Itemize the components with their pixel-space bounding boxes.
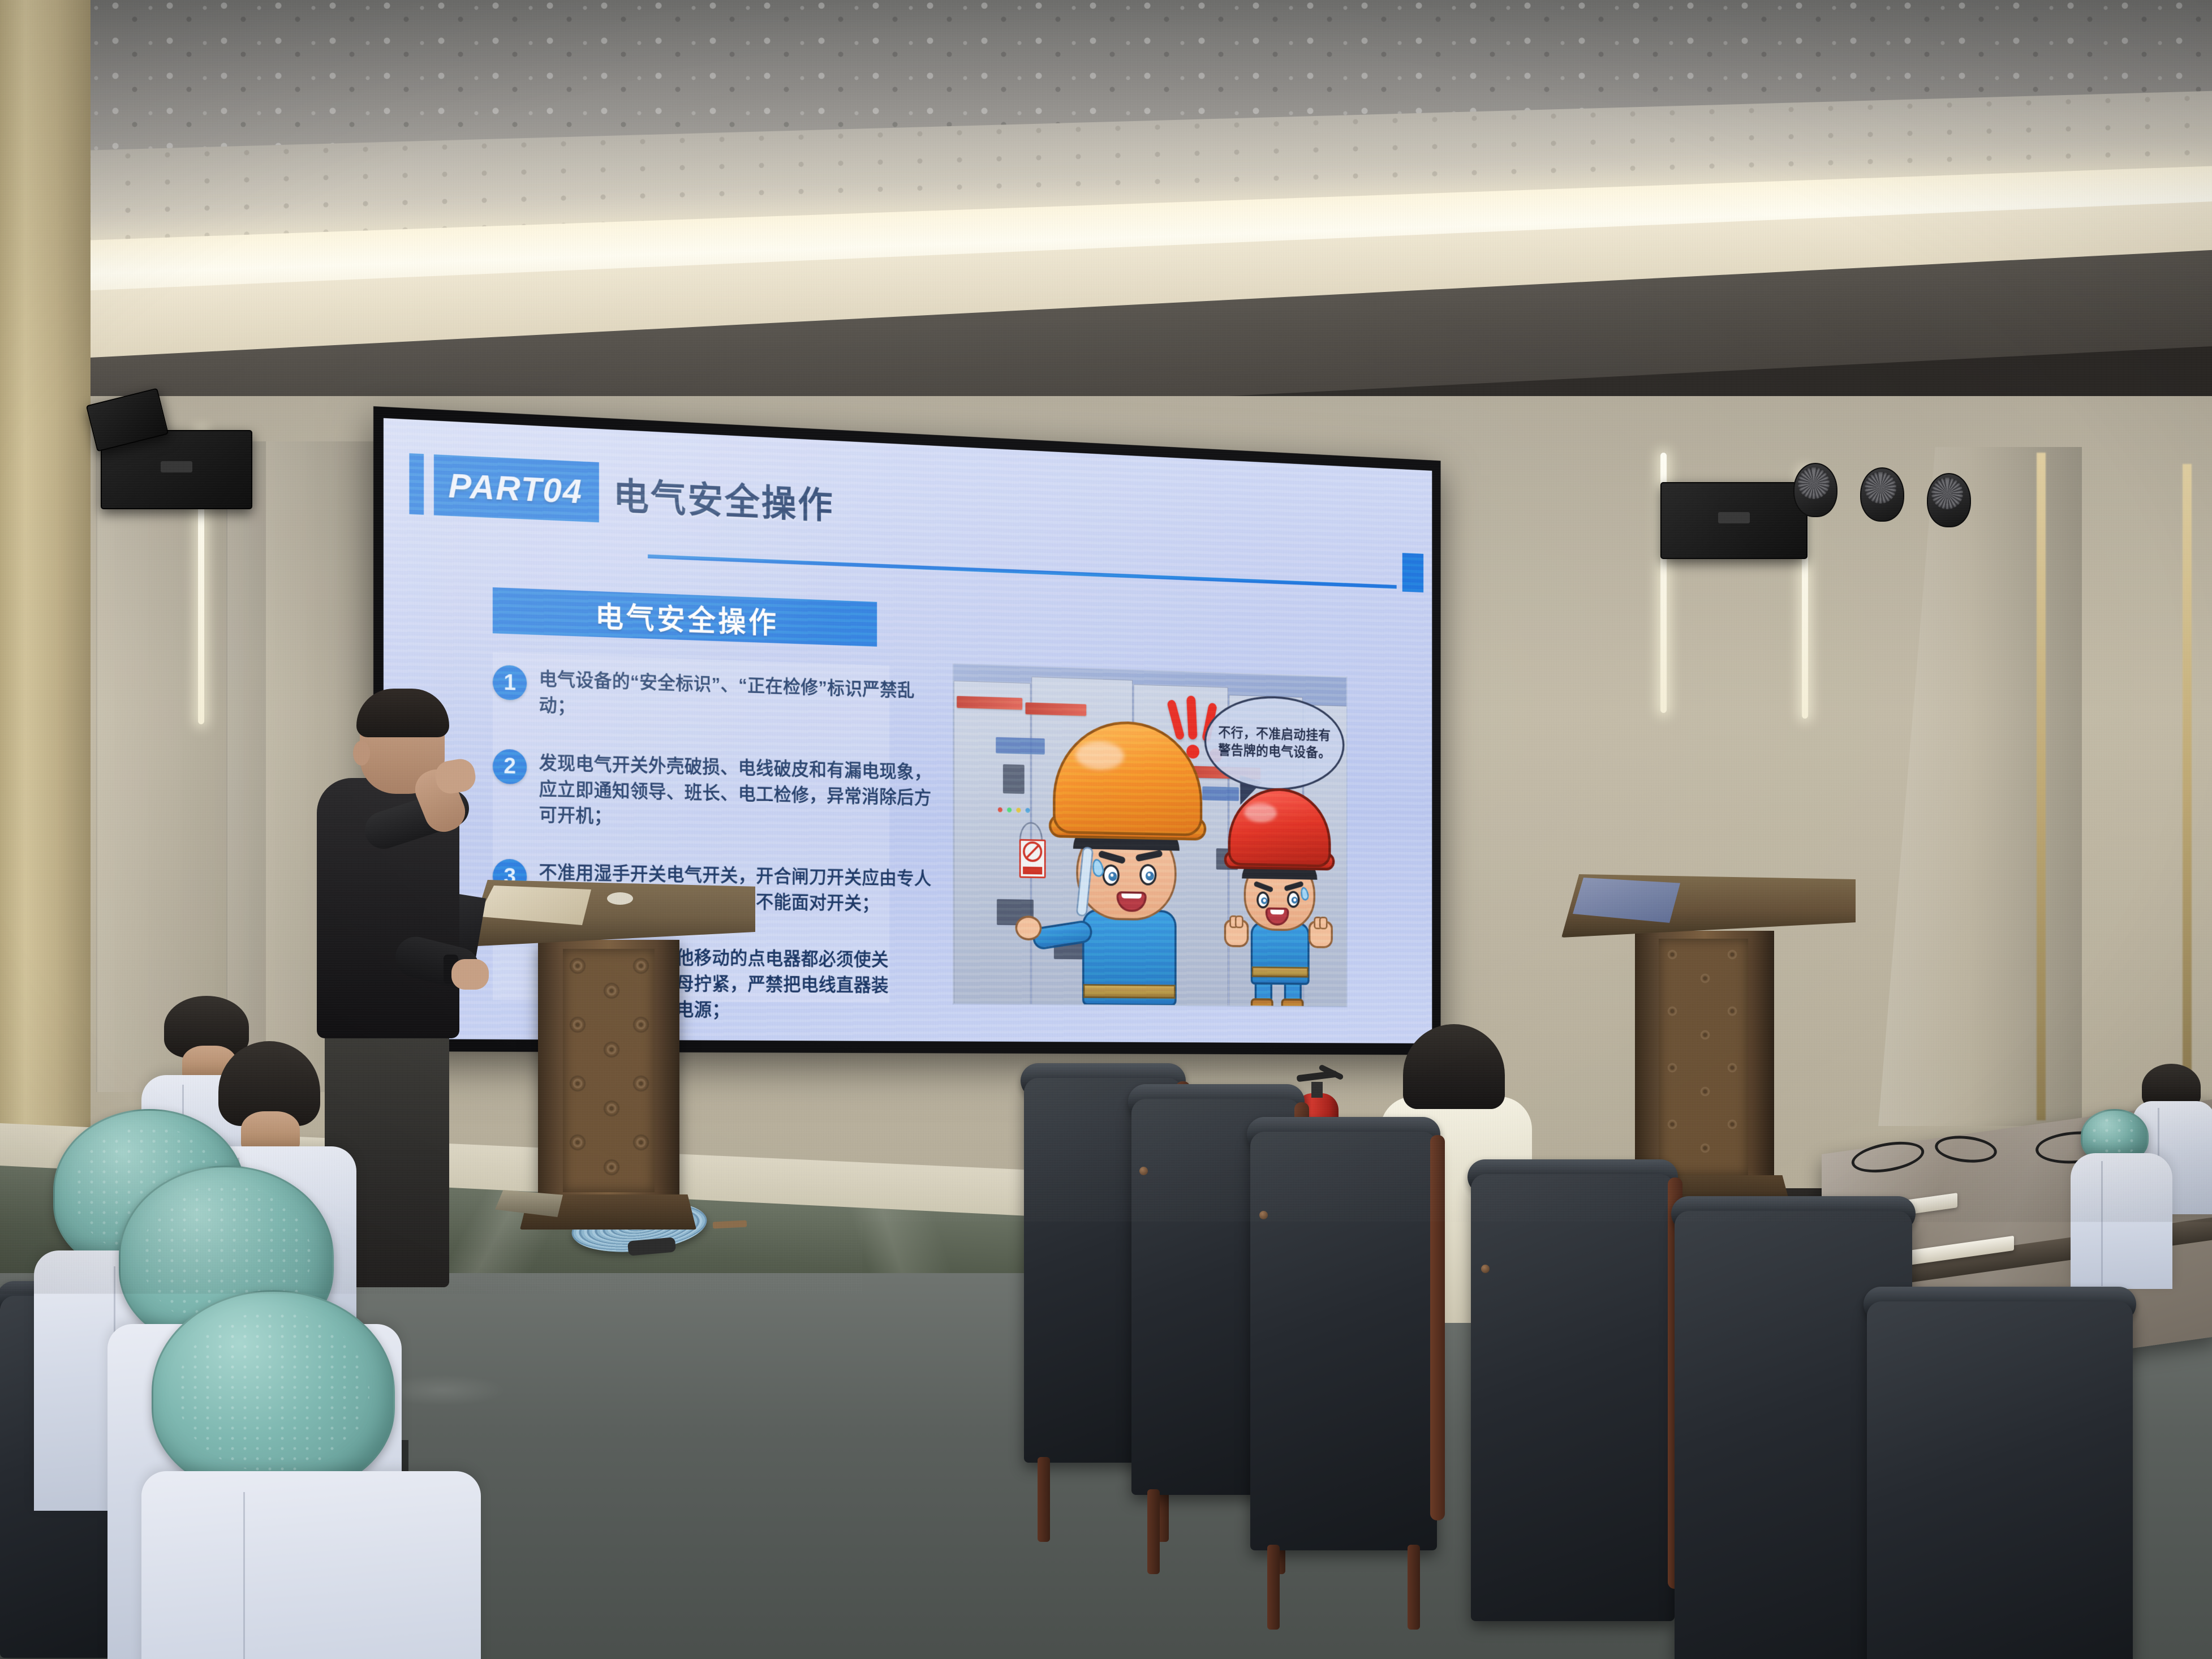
cabinet-indicator-blue xyxy=(1026,808,1030,813)
audience-member-4 xyxy=(464,1471,781,1659)
header-accent-tick xyxy=(409,453,424,515)
podium-step-shelf xyxy=(495,1190,563,1217)
chair-back-6 xyxy=(1867,1301,2133,1659)
no-operation-sign xyxy=(1019,839,1046,878)
cabinet-indicator-amber xyxy=(1016,808,1021,813)
spotlight-1 xyxy=(1793,463,1837,517)
worker-front-eye-right xyxy=(1139,864,1156,886)
speaker-brand-logo xyxy=(161,461,192,472)
podium2-top xyxy=(1561,874,1856,938)
speech-bubble-text: 不行，不准启动挂有警告牌的电气设备。 xyxy=(1206,724,1342,762)
podium-work-surface xyxy=(478,886,591,925)
podium-control-knob[interactable] xyxy=(607,892,633,905)
podium2-column xyxy=(1635,931,1774,1185)
extinguisher-neck xyxy=(1311,1082,1323,1098)
left-wall-pillar xyxy=(0,0,91,1160)
wall-gold-trim-right xyxy=(2183,464,2192,1086)
cabinet-warning-band-2 xyxy=(1026,702,1087,716)
header-accent-block xyxy=(1402,553,1423,592)
podium-column xyxy=(538,940,679,1206)
worker-back-hand-right xyxy=(1309,921,1333,948)
lab-coat-4 xyxy=(464,1494,781,1659)
lab-coat-3 xyxy=(141,1471,481,1659)
podium-carved-panel xyxy=(563,949,655,1192)
presenter-hair xyxy=(356,689,449,737)
chair-stud-4 xyxy=(1481,1265,1490,1273)
part-label: PART04 xyxy=(448,466,583,512)
chair-6[interactable] xyxy=(1867,1301,2133,1659)
conference-room-scene: PART04 电气安全操作 电气安全操作 1 电气设备的“安全标识”、“正在检修… xyxy=(0,0,2212,1659)
chair-leg-2a xyxy=(1147,1489,1160,1574)
safety-cartoon-illustration: 不行，不准启动挂有警告牌的电气设备。 xyxy=(953,663,1348,1007)
cabinet-warning-band-1 xyxy=(957,696,1022,710)
cabinet-indicator-red xyxy=(998,807,1002,813)
worker-back-hand-left xyxy=(1224,919,1249,947)
cabinet-meter-1 xyxy=(1003,764,1025,794)
spotlight-2 xyxy=(1860,467,1904,522)
worker-back-belt xyxy=(1252,966,1309,978)
far-right-coat-2 xyxy=(2071,1153,2172,1289)
header-part-box: PART04 xyxy=(434,454,599,522)
cabinet-label-1 xyxy=(996,737,1045,755)
chair-back-3 xyxy=(1250,1132,1437,1550)
podium2-carved-panel xyxy=(1659,939,1748,1175)
worker-front-hard-hat xyxy=(1053,719,1202,836)
worker-front-eye-left xyxy=(1103,864,1120,886)
cartoon-worker-back xyxy=(1226,787,1333,1000)
bullet-number-2: 2 xyxy=(493,749,527,784)
podium-top xyxy=(461,880,755,947)
chair-leg-3b xyxy=(1408,1545,1420,1630)
worker-front-hand xyxy=(1015,916,1042,940)
polo-person-hair xyxy=(1403,1024,1505,1109)
slide-title: 电气安全操作 xyxy=(613,466,834,529)
slide-header: PART04 电气安全操作 xyxy=(409,453,834,532)
chair-3[interactable] xyxy=(1250,1132,1437,1550)
worker-back-eye-right xyxy=(1287,891,1299,908)
sign-footer-band xyxy=(1023,867,1042,875)
worker-back-hard-hat xyxy=(1228,787,1331,867)
bullet-text-2: 发现电气开关外壳破损、电线破皮和有漏电现象，应立即通知领导、班长、电工检修，异常… xyxy=(539,750,936,836)
speaker-right xyxy=(1660,482,1808,559)
chair-leg-1a xyxy=(1038,1457,1050,1542)
presenter-hand-lower xyxy=(451,959,489,990)
wall-gold-trim xyxy=(2037,453,2046,1120)
worker-back-eye-left xyxy=(1256,891,1269,908)
chair-stud-3 xyxy=(1259,1211,1268,1219)
speaker-brand-logo-right xyxy=(1718,512,1750,523)
worker-front-belt xyxy=(1083,984,1176,999)
chair-back-4 xyxy=(1471,1174,1675,1621)
section-title-bar: 电气安全操作 xyxy=(493,587,877,647)
bullet-number-1: 1 xyxy=(493,665,527,700)
cabinet-indicator-green xyxy=(1007,807,1012,813)
presenter-ear xyxy=(353,741,370,766)
spotlight-3 xyxy=(1927,473,1971,527)
chair-wood-frame-3 xyxy=(1430,1135,1445,1520)
audience-member-3 xyxy=(141,1290,481,1659)
audience-member-far-right-2 xyxy=(2071,1109,2167,1279)
header-rule xyxy=(648,555,1397,589)
worker-back-boot-right xyxy=(1281,999,1304,1008)
chair-stud-2 xyxy=(1139,1167,1148,1175)
podium2-front-panel xyxy=(1573,878,1680,923)
worker-back-boot-left xyxy=(1251,998,1273,1007)
bullet-item-2: 2 发现电气开关外壳破损、电线破皮和有漏电现象，应立即通知领导、班长、电工检修，… xyxy=(493,749,936,836)
section-title-text: 电气安全操作 xyxy=(595,593,778,641)
chair-leg-3a xyxy=(1267,1545,1280,1630)
cartoon-worker-front xyxy=(1050,719,1206,1005)
chair-4[interactable] xyxy=(1471,1174,1675,1621)
podium-main[interactable] xyxy=(461,880,755,1245)
hairnet-3 xyxy=(152,1290,395,1494)
